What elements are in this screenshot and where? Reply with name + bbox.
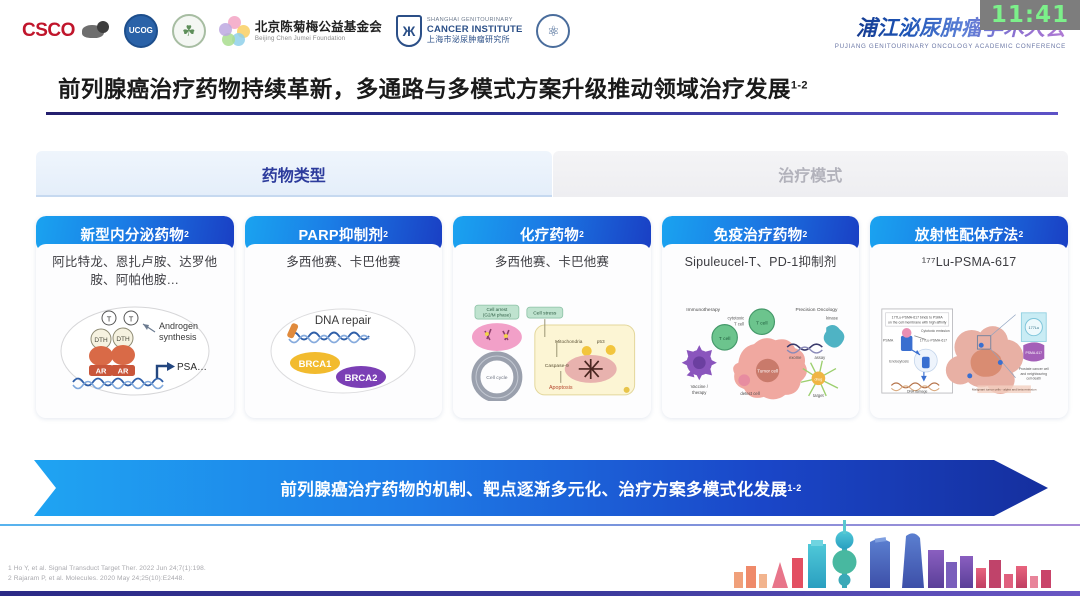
svg-text:Androgen: Androgen [159, 321, 198, 331]
svg-text:Endocytosis: Endocytosis [890, 359, 910, 363]
svg-text:Cytotoxic emission: Cytotoxic emission [921, 328, 950, 332]
svg-text:(G2/M phase): (G2/M phase) [483, 312, 511, 317]
reference-list: 1 Ho Y, et al. Signal Transduct Target T… [8, 564, 206, 584]
shanghai-cancer-institute-logo: Ж SHANGHAI GENITOURINARY CANCER INSTITUT… [396, 15, 523, 47]
svg-text:Immunotherapy: Immunotherapy [686, 306, 720, 312]
foundation-name-en: Beijing Chen Jumei Foundation [255, 35, 382, 42]
svg-text:kinase: kinase [826, 315, 839, 320]
svg-text:on the cell membrane with high: on the cell membrane with high affinity [888, 320, 947, 324]
banner-text: 前列腺癌治疗药物的机制、靶点逐渐多元化、治疗方案多模式化发展1-2 [34, 458, 1048, 518]
svg-text:AR: AR [95, 366, 106, 375]
green-seal-logo: ☘ [172, 14, 206, 48]
category-tabs: 药物类型 治疗模式 [36, 151, 1068, 197]
svg-text:Cell arrest: Cell arrest [487, 307, 509, 312]
svg-text:exome: exome [789, 354, 802, 359]
svg-text:177Lu: 177Lu [1029, 326, 1040, 330]
tab-drug-type[interactable]: 药物类型 [36, 151, 552, 197]
svg-text:T: T [107, 314, 112, 323]
svg-text:target: target [813, 392, 824, 397]
svg-text:p53: p53 [597, 339, 605, 345]
card-title: PARP抑制剂 [298, 224, 383, 245]
card-drug-list: ¹⁷⁷Lu-PSMA-617 [922, 253, 1017, 289]
page-title-text: 前列腺癌治疗药物持续革新，多通路与多模式方案升级推动领域治疗发展 [58, 77, 791, 102]
flower-icon [220, 16, 250, 46]
card-title-superscript: 2 [184, 229, 189, 239]
svg-text:Prostate cancer cell: Prostate cancer cell [1019, 367, 1049, 371]
shanghai-skyline-decoration [720, 518, 1080, 588]
svg-text:DTH: DTH [116, 336, 130, 343]
shield-icon: Ж [396, 15, 422, 47]
svg-text:cytotoxic: cytotoxic [727, 315, 745, 320]
card-title-superscript: 2 [802, 229, 807, 239]
panda-icon [80, 21, 110, 41]
svg-text:PSMA: PSMA [883, 338, 894, 342]
svg-text:drug: drug [814, 376, 822, 381]
svg-text:T: T [129, 314, 134, 323]
figure-cell-cycle-apoptosis-icon: Cell arrest (G2/M phase) Cell stress Cel… [461, 289, 643, 412]
slide: CSCO UCOG ☘ 北京陈菊梅公益基金会 Beijing Chen Jume… [0, 0, 1080, 596]
card-parp-inhibitors[interactable]: PARP抑制剂2 多西他赛、卡巴他赛 DNA repair BRCA1 BRCA… [245, 216, 443, 418]
svg-text:Vaccine /: Vaccine / [690, 384, 708, 389]
svg-text:DNA damage: DNA damage [907, 389, 928, 393]
card-immunotherapy-drugs[interactable]: 免疫治疗药物2 Sipuleucel-T、PD-1抑制剂 Immunothera… [662, 216, 860, 418]
tab-treatment-mode[interactable]: 治疗模式 [553, 151, 1069, 197]
card-title-superscript: 2 [579, 229, 584, 239]
card-drug-list: 阿比特龙、恩扎卢胺、达罗他胺、阿帕他胺… [44, 253, 226, 289]
page-title: 前列腺癌治疗药物持续革新，多通路与多模式方案升级推动领域治疗发展1-2 [0, 72, 1080, 104]
card-title-superscript: 2 [1018, 229, 1023, 239]
svg-text:Tumor cell: Tumor cell [757, 368, 778, 373]
title-block: 前列腺癌治疗药物持续革新，多通路与多模式方案升级推动领域治疗发展1-2 [0, 72, 1080, 115]
title-divider [46, 112, 1058, 115]
card-drug-list: Sipuleucel-T、PD-1抑制剂 [685, 253, 837, 289]
svg-text:Malignant tumor cells - alpha: Malignant tumor cells - alpha and beta e… [972, 387, 1037, 391]
svg-text:DTH: DTH [94, 337, 108, 344]
banner-text-main: 前列腺癌治疗药物的机制、靶点逐渐多元化、治疗方案多模式化发展 [280, 476, 787, 500]
page-title-superscript: 1-2 [791, 80, 808, 92]
card-title: 免疫治疗药物 [714, 224, 803, 245]
sponsor-logos: CSCO UCOG ☘ 北京陈菊梅公益基金会 Beijing Chen Jume… [0, 14, 570, 48]
figure-psma-radioligand-therapy-icon: 177Lu-PSMA-617 binds to PSMA on the cell… [878, 289, 1060, 412]
svg-text:BRCA2: BRCA2 [345, 373, 378, 384]
footer-divider [0, 591, 1080, 596]
beijing-chen-jumei-foundation-logo: 北京陈菊梅公益基金会 Beijing Chen Jumei Foundation [220, 16, 382, 46]
clover-icon: ☘ [182, 22, 195, 40]
circular-seal-logo: ⚛ [536, 14, 570, 48]
svg-text:177Lu-PSMA-617 binds to PSMA: 177Lu-PSMA-617 binds to PSMA [892, 315, 944, 319]
foundation-name-cn: 北京陈菊梅公益基金会 [255, 20, 382, 34]
summary-arrow-banner: 前列腺癌治疗药物的机制、靶点逐渐多元化、治疗方案多模式化发展1-2 [34, 458, 1048, 518]
figure-androgen-receptor-signaling-icon: T T Androgen synthesis DTH DTH [44, 289, 226, 412]
svg-text:Precision Oncology: Precision Oncology [795, 306, 838, 312]
ucog-logo-text: UCOG [129, 27, 153, 35]
svg-text:Cell stress: Cell stress [533, 310, 557, 316]
drug-category-cards: 新型内分泌药物2 阿比特龙、恩扎卢胺、达罗他胺、阿帕他胺… T T Androg… [36, 216, 1068, 418]
sgci-line3: 上海市泌尿肿瘤研究所 [427, 35, 523, 45]
svg-text:Cell cycle: Cell cycle [486, 374, 507, 380]
card-radioligand-therapy[interactable]: 放射性配体疗法2 ¹⁷⁷Lu-PSMA-617 177Lu-PSMA-617 b… [870, 216, 1068, 418]
svg-text:BRCA1: BRCA1 [299, 359, 332, 370]
svg-text:Apoptosis: Apoptosis [549, 384, 573, 390]
card-drug-list: 多西他赛、卡巴他赛 [495, 253, 609, 289]
figure-immuno-oncology-icon: Immunotherapy Precision Oncology T cell … [670, 289, 852, 412]
sgci-line2: CANCER INSTITUTE [427, 24, 523, 35]
card-chemotherapy-drugs[interactable]: 化疗药物2 多西他赛、卡巴他赛 Cell arrest (G2/M phase)… [453, 216, 651, 418]
svg-text:Mitochondria: Mitochondria [555, 339, 583, 345]
card-title: 化疗药物 [520, 224, 579, 245]
svg-text:assay: assay [814, 354, 826, 359]
svg-text:PSA…: PSA… [177, 362, 207, 373]
svg-text:detect cell: detect cell [740, 390, 759, 395]
figure-dna-repair-icon: DNA repair BRCA1 BRCA2 [253, 289, 435, 412]
svg-text:Caspase-9: Caspase-9 [545, 362, 569, 368]
card-title: 新型内分泌药物 [80, 224, 184, 245]
reference-item: 1 Ho Y, et al. Signal Transduct Target T… [8, 564, 206, 574]
csco-logo-text: CSCO [22, 20, 75, 42]
card-title-superscript: 2 [383, 229, 388, 239]
svg-text:T cell: T cell [756, 320, 768, 326]
sponsor-logo-bar: CSCO UCOG ☘ 北京陈菊梅公益基金会 Beijing Chen Jume… [0, 0, 1080, 62]
ucog-logo: UCOG [124, 14, 158, 48]
svg-text:DNA repair: DNA repair [315, 315, 371, 327]
card-novel-endocrine-drugs[interactable]: 新型内分泌药物2 阿比特龙、恩扎卢胺、达罗他胺、阿帕他胺… T T Androg… [36, 216, 234, 418]
timestamp-overlay: 11:41 [980, 0, 1080, 30]
svg-text:T cell: T cell [719, 336, 731, 342]
reference-item: 2 Rajaram P, et al. Molecules. 2020 May … [8, 574, 206, 584]
csco-logo: CSCO [22, 20, 110, 42]
svg-text:T cell: T cell [734, 321, 744, 326]
svg-text:AR: AR [117, 366, 128, 375]
svg-text:synthesis: synthesis [159, 332, 197, 342]
sgci-line1: SHANGHAI GENITOURINARY [427, 17, 523, 24]
card-title: 放射性配体疗法 [915, 224, 1019, 245]
svg-text:therapy: therapy [692, 389, 707, 394]
svg-text:cell death: cell death [1027, 376, 1042, 380]
svg-text:and neighbouring: and neighbouring [1021, 371, 1048, 375]
card-drug-list: 多西他赛、卡巴他赛 [286, 253, 400, 289]
svg-text:PSMA-617: PSMA-617 [1026, 350, 1043, 354]
conference-name-en: PUJIANG GENITOURINARY ONCOLOGY ACADEMIC … [835, 43, 1066, 50]
banner-text-superscript: 1-2 [787, 483, 801, 493]
